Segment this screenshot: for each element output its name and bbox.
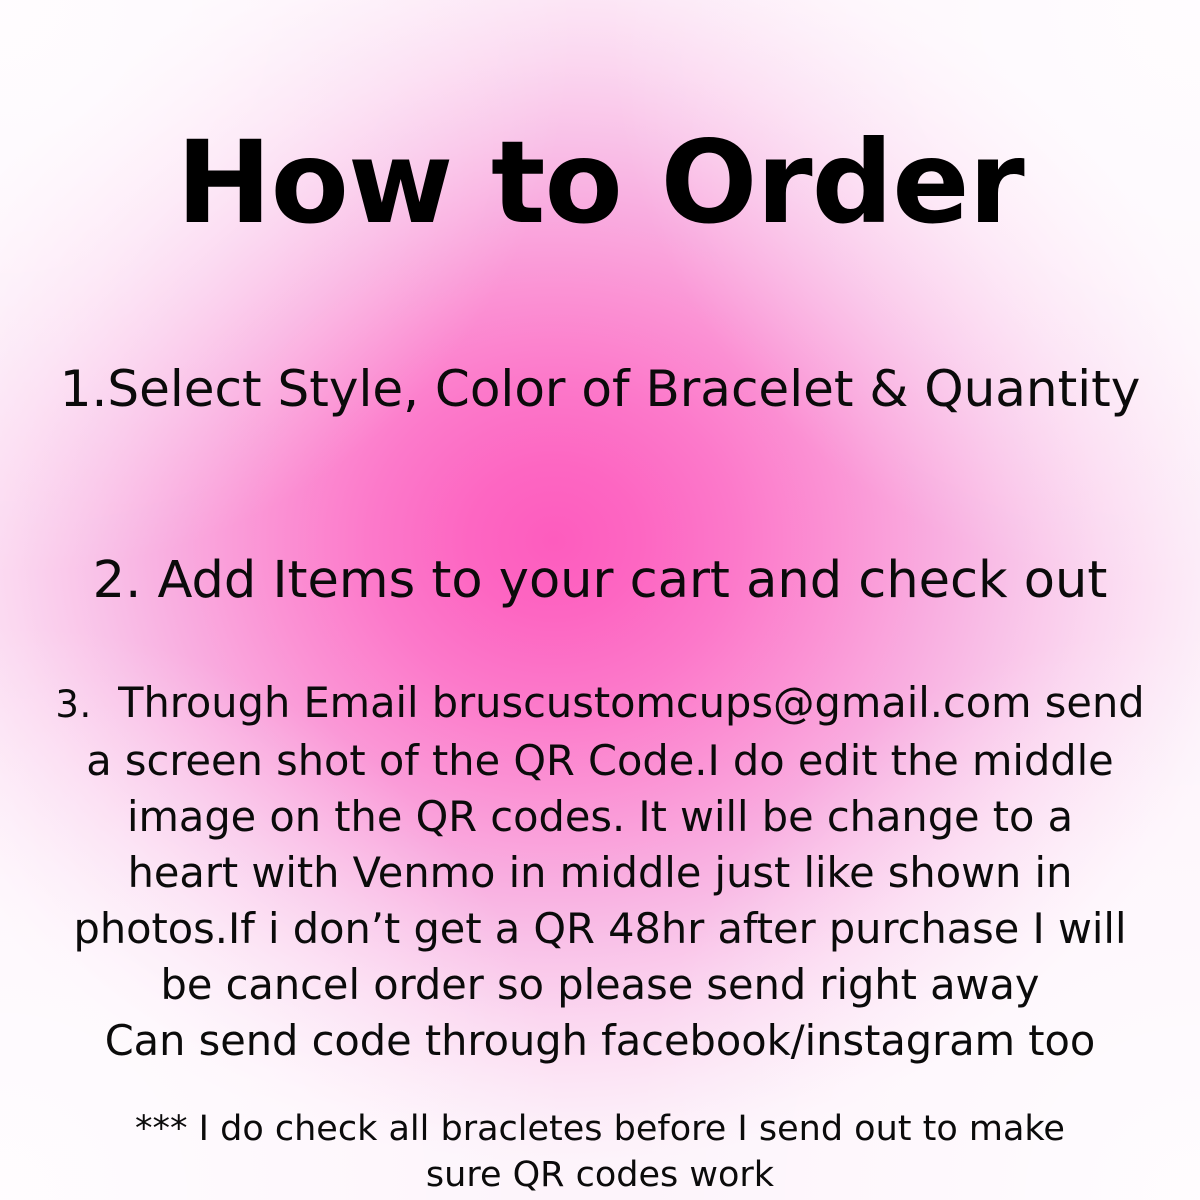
step-1-instruction: 1.Select Style, Color of Bracelet & Quan… <box>0 362 1200 416</box>
step-3-line-6: be cancel order so please send right awa… <box>0 957 1200 1013</box>
step-3-line-1-text: Through Email bruscustomcups@gmail.com s… <box>118 678 1144 727</box>
step-3-line-1: 3. Through Email bruscustomcups@gmail.co… <box>0 675 1200 733</box>
how-to-order-poster: How to Order 1.Select Style, Color of Br… <box>0 0 1200 1200</box>
step-3-line-2: a screen shot of the QR Code.I do edit t… <box>0 733 1200 789</box>
step-3-instruction: 3. Through Email bruscustomcups@gmail.co… <box>0 675 1200 1069</box>
poster-content: How to Order 1.Select Style, Color of Br… <box>0 0 1200 1200</box>
step-3-marker: 3. <box>55 683 91 726</box>
step-3-line-7: Can send code through facebook/instagram… <box>0 1013 1200 1069</box>
step-3-line-5: photos.If i don’t get a QR 48hr after pu… <box>0 901 1200 957</box>
step-2-instruction: 2. Add Items to your cart and check out <box>0 553 1200 608</box>
footnote: *** I do check all bracletes before I se… <box>0 1106 1200 1198</box>
step-3-line-4: heart with Venmo in middle just like sho… <box>0 845 1200 901</box>
footnote-line-1: *** I do check all bracletes before I se… <box>0 1106 1200 1152</box>
footnote-line-2: sure QR codes work <box>0 1152 1200 1198</box>
page-title: How to Order <box>0 126 1200 240</box>
step-3-line-3: image on the QR codes. It will be change… <box>0 789 1200 845</box>
